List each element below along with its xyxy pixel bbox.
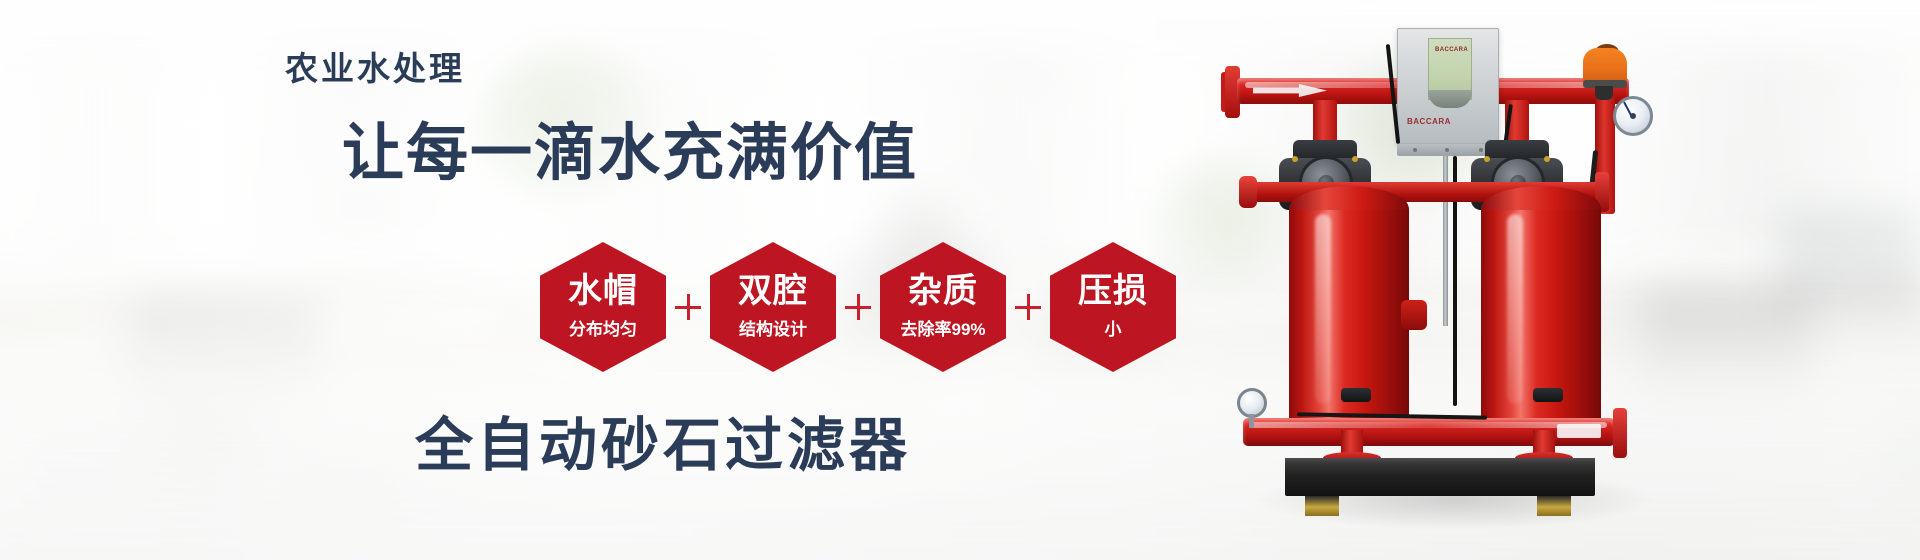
base-foot-pad-left: [1305, 496, 1339, 516]
feature-subtitle: 结构设计: [739, 315, 807, 340]
feature-badge-dual-chamber: 双腔 结构设计: [710, 242, 836, 372]
product-photo-sand-filter: BACCARA BACCARA: [1185, 0, 1745, 560]
base-foot-pad-right: [1537, 496, 1571, 516]
valve-bolt-1: [1484, 156, 1490, 162]
tank-highlight: [1507, 214, 1523, 404]
feature-subtitle: 去除率99%: [900, 315, 985, 340]
valve-bolt-1: [1292, 156, 1298, 162]
hero-banner: 农业水处理 让每一滴水充满价值 全自动砂石过滤器 水帽 分布均匀 双腔 结构设计…: [0, 0, 1920, 560]
plus-separator-icon-2: [836, 285, 880, 329]
pressure-gauge-hub: [1630, 113, 1636, 119]
valve-bolt-2: [1544, 156, 1550, 162]
tank-clamp-right: [1533, 388, 1563, 402]
base-frame-skid: [1285, 462, 1595, 496]
hexagon-shape: 双腔 结构设计: [710, 242, 836, 372]
bottom-gauge-stem: [1249, 414, 1254, 428]
bottom-pipe-label: [1557, 424, 1601, 438]
hexagon-shape: 水帽 分布均匀: [540, 242, 666, 372]
plus-separator-icon-3: [1006, 285, 1050, 329]
tank-access-port-left: [1401, 300, 1427, 330]
bottom-manifold-highlight: [1251, 422, 1607, 428]
banner-headline: 让每一滴水充满价值: [342, 102, 918, 192]
feature-badge-row: 水帽 分布均匀 双腔 结构设计 杂质 去除率99% 压损 小: [540, 242, 1176, 372]
feature-subtitle: 小: [1105, 315, 1122, 340]
feature-badge-pressure-loss: 压损 小: [1050, 242, 1176, 372]
controller-screw-1: [1413, 148, 1417, 152]
controller-display-brand: BACCARA: [1435, 47, 1468, 53]
banner-eyebrow: 农业水处理: [285, 42, 465, 90]
tank-highlight: [1315, 214, 1331, 404]
top-drop-pipe-left: [1313, 100, 1337, 142]
controller-brand-label: BACCARA: [1407, 117, 1451, 126]
feature-title: 水帽: [568, 274, 638, 310]
air-valve-stem: [1595, 86, 1613, 100]
tank-clamp-left: [1341, 388, 1371, 402]
feature-subtitle: 分布均匀: [569, 315, 637, 340]
mid-pipe-end-left: [1239, 176, 1257, 208]
controller-screw-2: [1445, 148, 1449, 152]
feature-badge-impurity: 杂质 去除率99%: [880, 242, 1006, 372]
feature-title: 双腔: [738, 274, 808, 310]
hexagon-shape: 杂质 去除率99%: [880, 242, 1006, 372]
plus-separator-icon-1: [666, 285, 710, 329]
hexagon-shape: 压损 小: [1050, 242, 1176, 372]
feature-title: 杂质: [908, 274, 978, 310]
outlet-flange: [1613, 408, 1627, 458]
feature-title: 压损: [1078, 274, 1148, 310]
banner-subline: 全自动砂石过滤器: [415, 398, 911, 482]
valve-bolt-2: [1352, 156, 1358, 162]
feature-badge-water-cap: 水帽 分布均匀: [540, 242, 666, 372]
